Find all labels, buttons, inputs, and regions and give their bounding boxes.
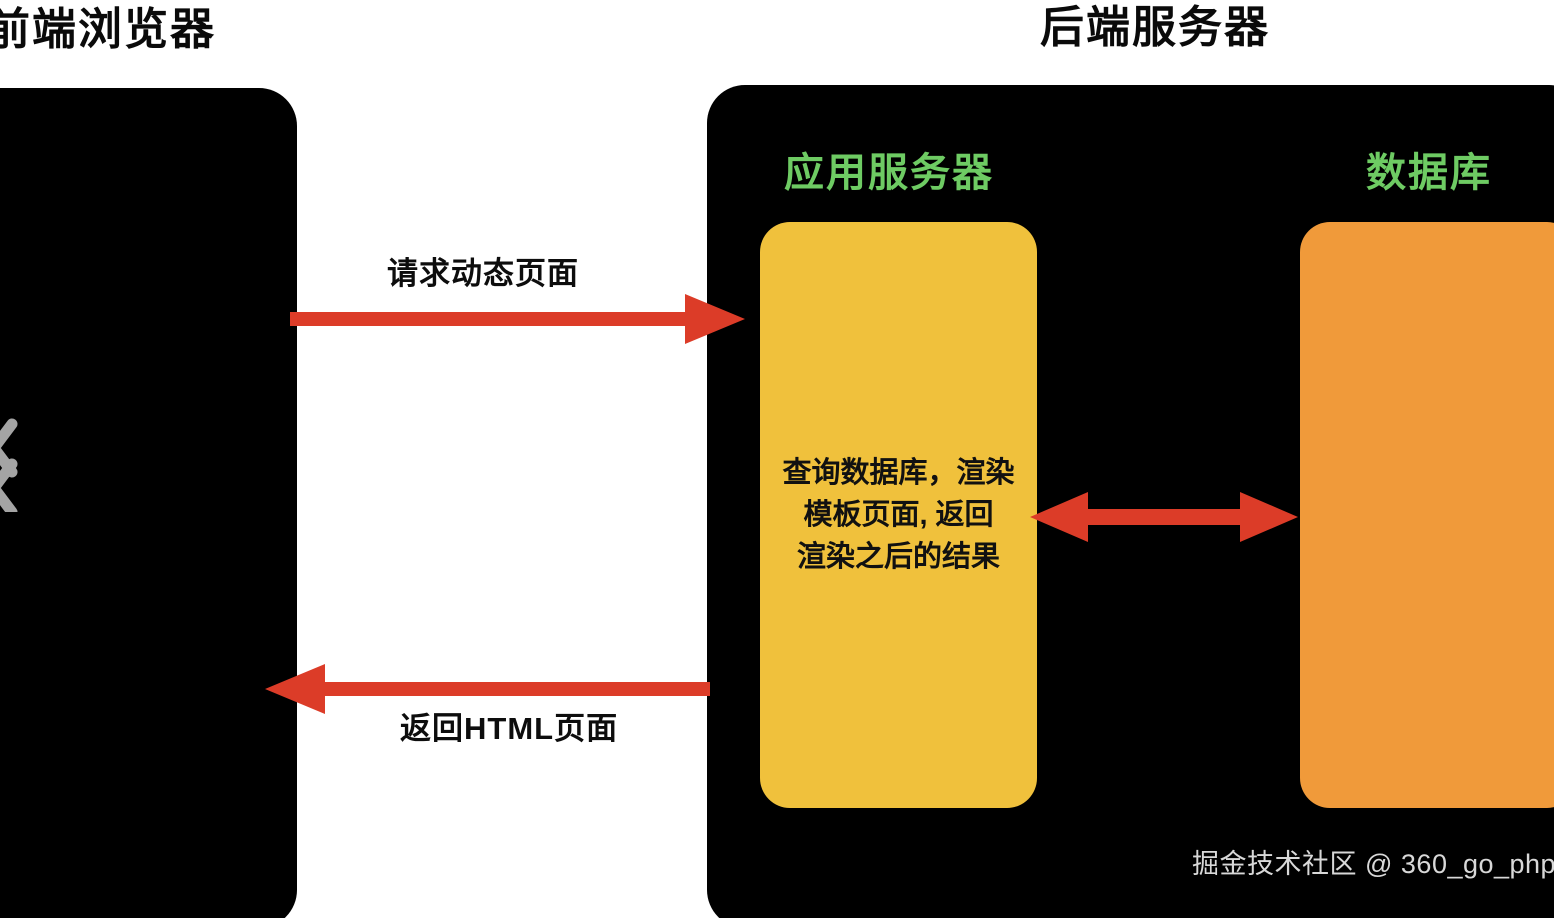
app-server-description-line-1: 查询数据库，渲染: [766, 452, 1031, 494]
request-arrow-right-icon: [290, 290, 745, 348]
database-label: 数据库: [1366, 153, 1492, 193]
app-server-label: 应用服务器: [784, 153, 994, 193]
watermark: 掘金技术社区 @ 360_go_php: [1192, 851, 1554, 878]
database-bidirectional-arrow-icon: [1030, 488, 1298, 546]
response-arrow-left-icon: [265, 660, 710, 718]
app-server-box: 查询数据库，渲染 模板页面, 返回 渲染之后的结果: [760, 222, 1037, 808]
diagram-canvas: 前端浏览器 后端服务器 应用服务器 数据库 查询数据库，渲染 模板页面, 返回 …: [0, 0, 1554, 918]
request-arrow-label: 请求动态页面: [387, 258, 579, 289]
database-box: [1300, 222, 1554, 808]
frontend-browser-panel: [0, 88, 297, 918]
app-server-description-line-3: 渲染之后的结果: [766, 536, 1031, 578]
chevron-left-icon: [0, 418, 18, 512]
response-arrow-label: 返回HTML页面: [400, 713, 618, 744]
frontend-title: 前端浏览器: [0, 8, 216, 52]
app-server-description: 查询数据库，渲染 模板页面, 返回 渲染之后的结果: [760, 452, 1037, 578]
backend-title: 后端服务器: [1040, 6, 1270, 50]
app-server-description-line-2: 模板页面, 返回: [766, 494, 1031, 536]
